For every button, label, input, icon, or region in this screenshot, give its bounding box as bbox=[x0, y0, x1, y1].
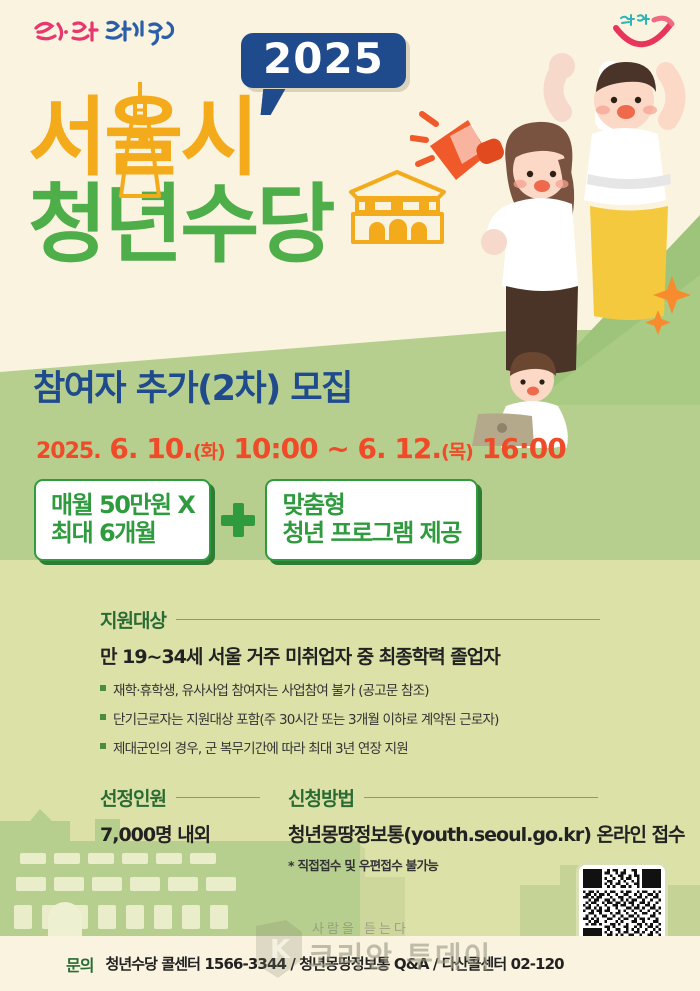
section-quota: 선정인원 7,000명 내외 bbox=[100, 784, 260, 847]
quota-value: 7,000명 내외 bbox=[100, 820, 260, 847]
application-period: 2025. 6. 10.(화) 10:00 ~ 6. 12.(목) 16:00 bbox=[36, 432, 566, 465]
period-start-time: 10:00 bbox=[233, 432, 317, 465]
year-badge-tail bbox=[261, 89, 286, 115]
section-apply: 신청방법 청년몽땅정보통(youth.seoul.go.kr) 온라인 접수 *… bbox=[288, 784, 598, 874]
period-end-day: (목) bbox=[441, 441, 473, 463]
period-year: 2025. bbox=[36, 439, 101, 464]
benefit-box-allowance: 매월 50만원 X 최대 6개월 bbox=[34, 479, 211, 561]
apply-heading: 신청방법 bbox=[288, 784, 354, 811]
footer-contact: 문의 청년수당 콜센터 1566-3344 / 청년몽땅정보통 Q&A / 다산… bbox=[0, 936, 700, 991]
benefit-box-program: 맞춤형 청년 프로그램 제공 bbox=[265, 479, 477, 561]
eligibility-bullet: 제대군인의 경우, 군 복무기간에 따라 최대 3년 연장 지원 bbox=[100, 737, 600, 757]
footer-contact-text: 청년수당 콜센터 1566-3344 / 청년몽땅정보통 Q&A / 다산콜센터… bbox=[105, 953, 563, 974]
period-start-date: 6. 10. bbox=[109, 432, 192, 465]
section-eligibility: 지원대상 만 19~34세 서울 거주 미취업자 중 최종학력 졸업자 재학·휴… bbox=[100, 606, 600, 766]
apply-heading-row: 신청방법 bbox=[288, 784, 598, 811]
eligibility-main-text: 만 19~34세 서울 거주 미취업자 중 최종학력 졸업자 bbox=[100, 642, 600, 669]
eligibility-bullet: 재학·휴학생, 유사사업 참여자는 사업참여 불가 (공고문 참조) bbox=[100, 679, 600, 699]
poster-root: 2025 서울시 청년수당 bbox=[0, 0, 700, 991]
title-line-2: 청년수당 bbox=[28, 185, 548, 266]
benefit-allowance-line-2: 최대 6개월 bbox=[51, 519, 194, 547]
eligibility-rule bbox=[176, 619, 600, 621]
eligibility-heading: 지원대상 bbox=[100, 606, 166, 633]
seoul-city-logo bbox=[30, 14, 180, 50]
apply-rule bbox=[364, 797, 598, 799]
plus-icon bbox=[221, 503, 255, 537]
benefit-program-line-2: 청년 프로그램 제공 bbox=[282, 519, 460, 547]
period-start-day: (화) bbox=[193, 441, 225, 463]
benefit-boxes: 매월 50만원 X 최대 6개월 맞춤형 청년 프로그램 제공 bbox=[34, 479, 478, 561]
quota-rule bbox=[176, 797, 260, 799]
period-end-date: 6. 12. bbox=[358, 432, 441, 465]
year-badge-text: 2025 bbox=[263, 34, 384, 83]
benefit-allowance-line-1: 매월 50만원 X bbox=[51, 491, 194, 519]
period-tilde: ~ bbox=[326, 432, 348, 465]
year-badge: 2025 bbox=[241, 33, 406, 88]
palace-gate-icon bbox=[345, 168, 450, 246]
page-subtitle: 참여자 추가(2차) 모집 bbox=[33, 360, 352, 411]
apply-note: * 직접접수 및 우편접수 불가능 bbox=[288, 855, 598, 874]
benefit-program-line-1: 맞춤형 bbox=[282, 491, 460, 519]
eligibility-bullet: 단기근로자는 지원대상 포함(주 30시간 또는 3개월 이하로 계약된 근로자… bbox=[100, 708, 600, 728]
quota-heading: 선정인원 bbox=[100, 784, 166, 811]
apply-main-text: 청년몽땅정보통(youth.seoul.go.kr) 온라인 접수 bbox=[288, 820, 598, 847]
youth-happiness-logo bbox=[608, 8, 678, 56]
page-title: 서울시 청년수당 bbox=[28, 98, 548, 266]
period-end-time: 16:00 bbox=[482, 432, 566, 465]
title-line-1: 서울시 bbox=[28, 98, 548, 179]
eligibility-heading-row: 지원대상 bbox=[100, 606, 600, 633]
namsan-tower-icon bbox=[110, 78, 170, 208]
quota-heading-row: 선정인원 bbox=[100, 784, 260, 811]
footer-label: 문의 bbox=[66, 952, 93, 976]
eligibility-bullet-list: 재학·휴학생, 유사사업 참여자는 사업참여 불가 (공고문 참조) 단기근로자… bbox=[100, 679, 600, 757]
